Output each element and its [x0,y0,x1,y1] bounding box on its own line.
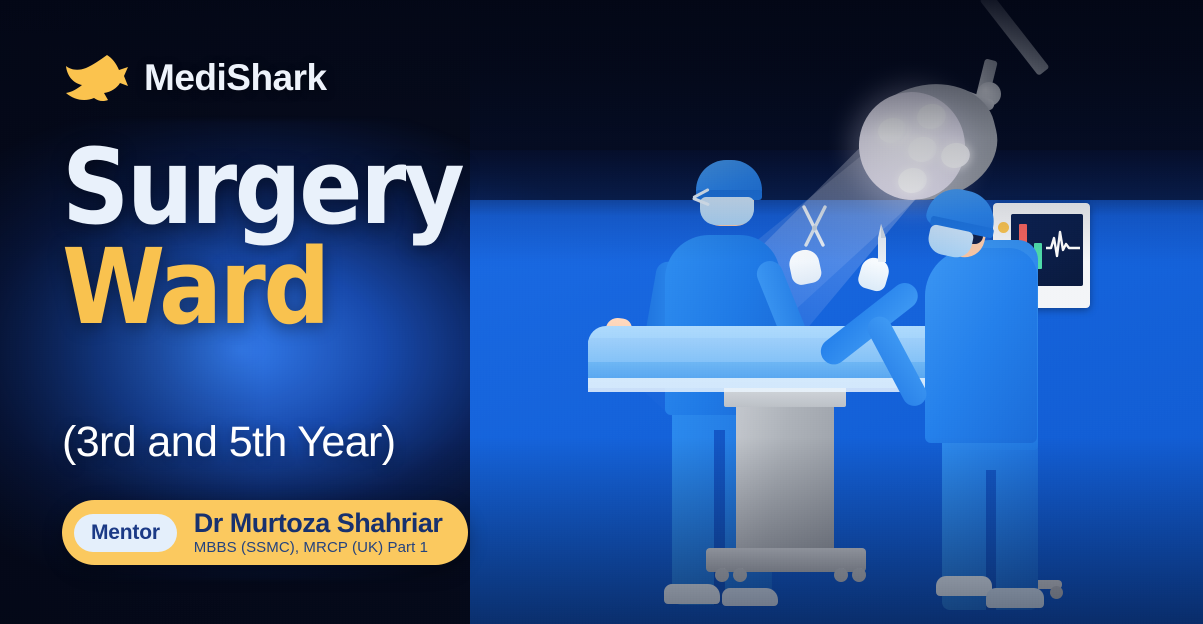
title-line-secondary: Ward [62,240,462,336]
banner-content: MediShark Surgery Ward (3rd and 5th Year… [0,0,520,624]
promo-banner: MediShark Surgery Ward (3rd and 5th Year… [0,0,1203,624]
brand-name: MediShark [144,57,327,99]
mentor-details: Dr Murtoza Shahriar MBBS (SSMC), MRCP (U… [194,509,443,556]
brand-logo[interactable]: MediShark [62,52,327,104]
shark-icon [62,52,128,104]
title-line-primary: Surgery [62,140,462,236]
mentor-qualifications: MBBS (SSMC), MRCP (UK) Part 1 [194,540,443,556]
mentor-name: Dr Murtoza Shahriar [194,509,443,537]
mentor-tag-label: Mentor [74,514,177,552]
page-title: Surgery Ward [62,140,462,335]
mentor-badge[interactable]: Mentor Dr Murtoza Shahriar MBBS (SSMC), … [62,500,468,565]
page-subtitle: (3rd and 5th Year) [62,418,395,467]
